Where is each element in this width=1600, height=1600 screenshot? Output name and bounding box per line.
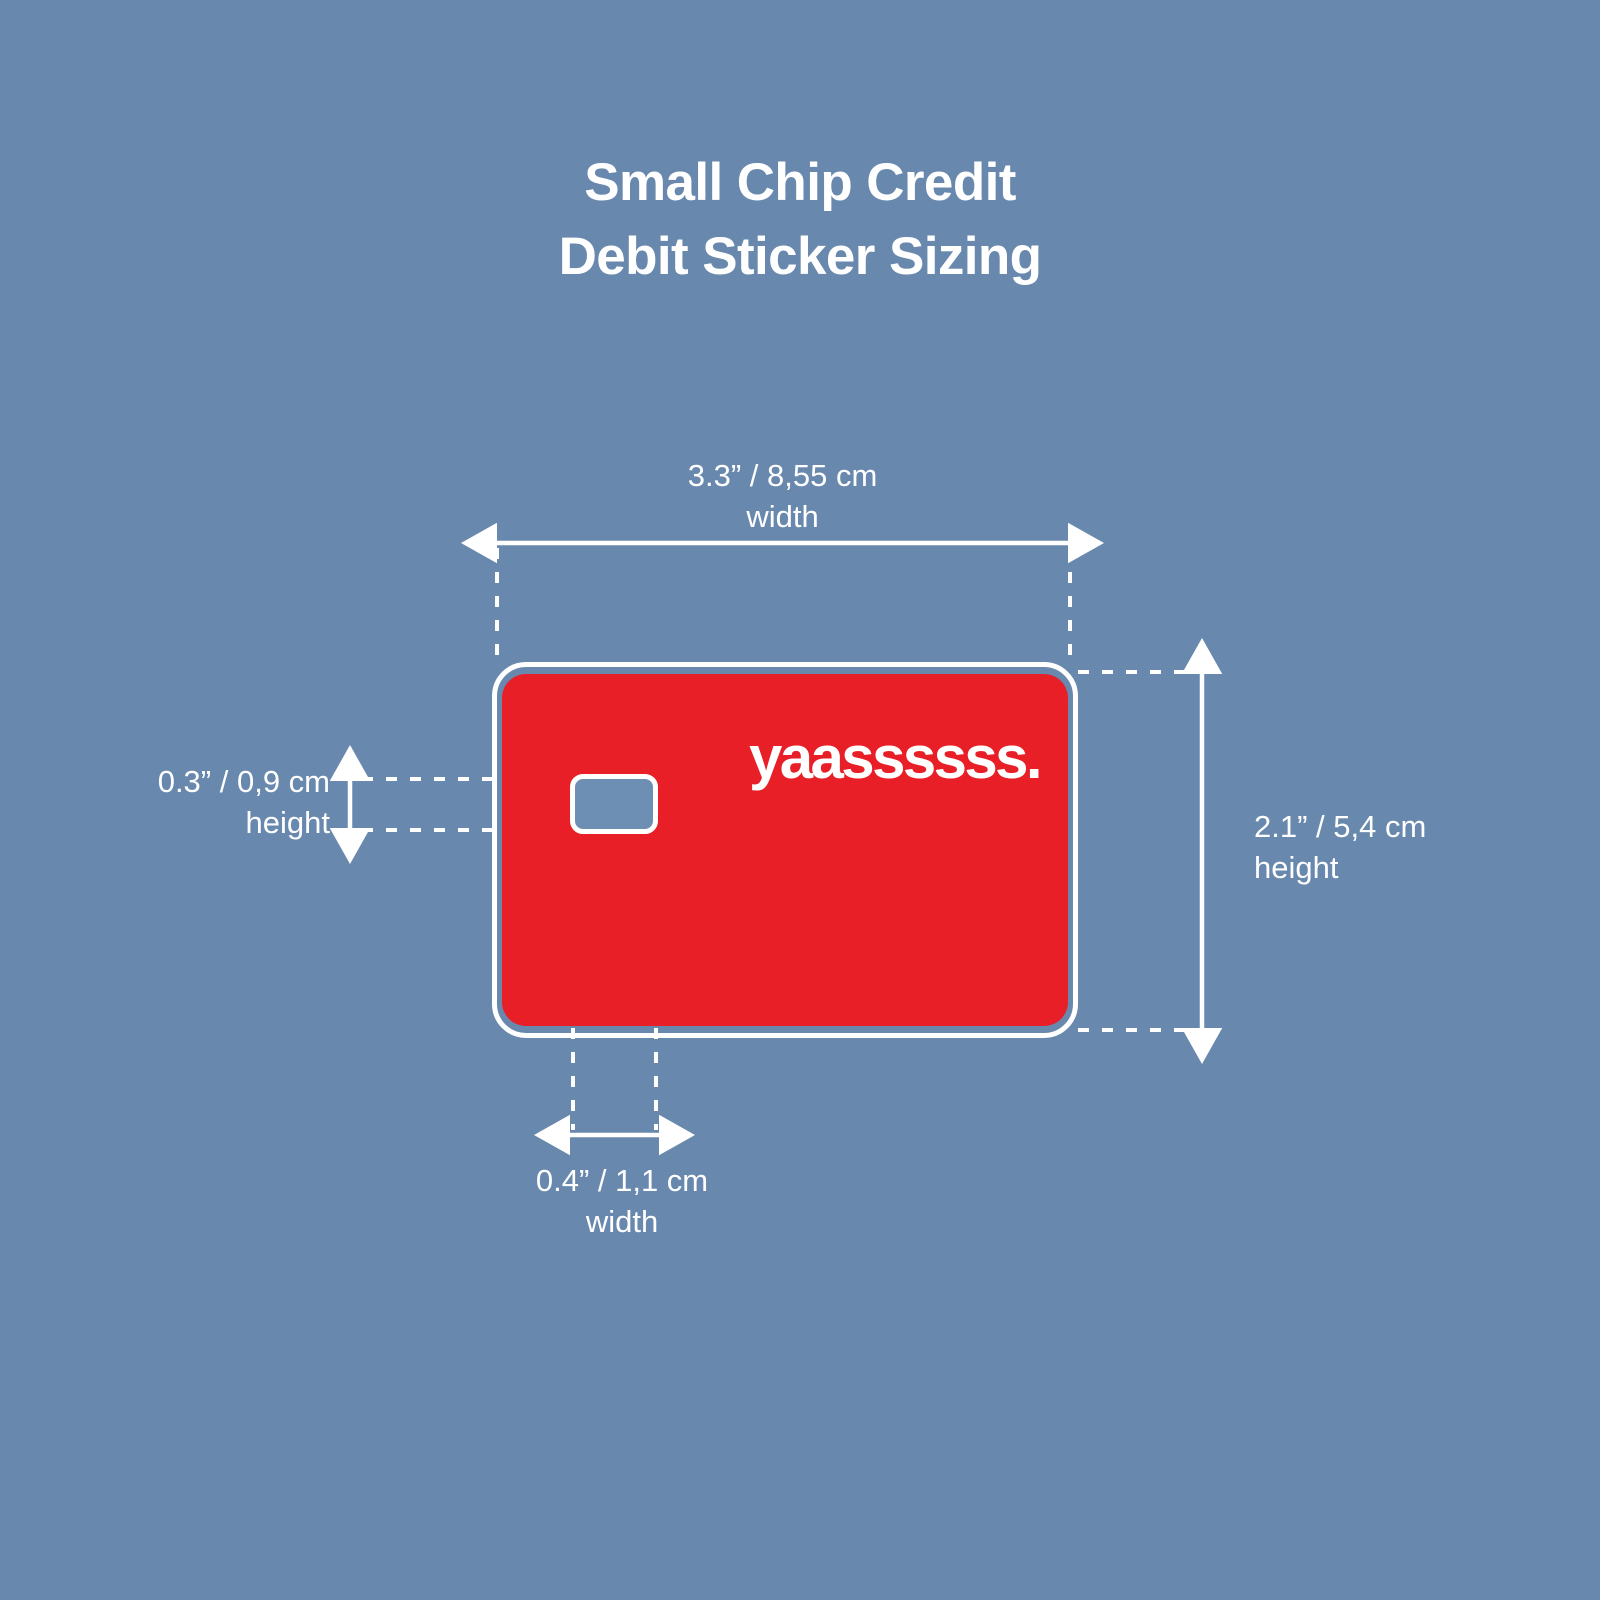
dimension-label-card-height: 2.1” / 5,4 cm height <box>1254 806 1426 888</box>
card-height-value: 2.1” / 5,4 cm <box>1254 809 1426 844</box>
dimension-label-chip-height: 0.3” / 0,9 cm height <box>0 761 330 843</box>
sizing-diagram: yaassssss. 3.3” / 8,55 cm width 2.1” / 5… <box>0 0 1600 1600</box>
card-width-value: 3.3” / 8,55 cm <box>688 458 878 493</box>
chip-height-axis: height <box>0 802 330 843</box>
guide-card-width <box>497 543 1070 668</box>
dimension-label-chip-width: 0.4” / 1,1 cm width <box>472 1160 772 1242</box>
chip-width-axis: width <box>472 1201 772 1242</box>
chip-width-value: 0.4” / 1,1 cm <box>536 1163 708 1198</box>
chip-height-value: 0.3” / 0,9 cm <box>158 764 330 799</box>
chip-cutout <box>570 774 658 834</box>
guide-card-height <box>1078 672 1205 1030</box>
card-height-axis: height <box>1254 847 1426 888</box>
dimension-label-card-width: 3.3” / 8,55 cm width <box>495 455 1070 537</box>
sticker-card: yaassssss. <box>502 674 1068 1026</box>
card-width-axis: width <box>495 496 1070 537</box>
